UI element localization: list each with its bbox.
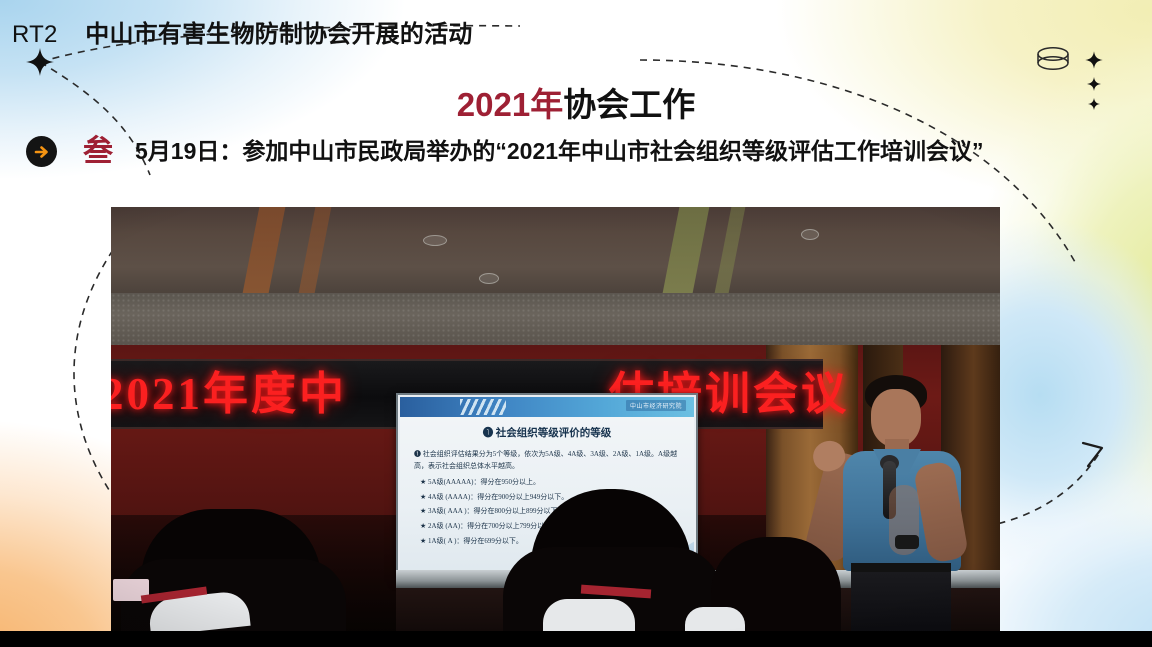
bullet-index: 叁 (83, 137, 113, 167)
cylinder-disc-icon (1035, 46, 1071, 72)
page-title-rest: 协会工作 (563, 86, 695, 123)
four-point-star-icon-large (1084, 50, 1104, 70)
header-title: 中山市有害生物防制协会开展的活动 (85, 21, 472, 48)
header-code: RT2 (12, 21, 58, 48)
arrow-right-circle-icon[interactable] (26, 136, 57, 167)
page-title: 2021年协会工作 (0, 78, 1152, 126)
meeting-photo: 2021年度中 估培训会议 中山市经济研究院 ❶ 社会组织等级评价的等级 ❶ 社… (111, 207, 1000, 631)
slide-canvas: RT2 中山市有害生物防制协会开展的活动 2021年协会工作 叁 5月19日：参… (0, 0, 1152, 631)
arrow-head-icon (1083, 443, 1102, 466)
bullet-row: 叁 5月19日：参加中山市民政局举办的“2021年中山市社会组织等级评估工作培训… (26, 136, 984, 167)
bottom-black-bar (0, 631, 1152, 647)
photo-vignette (111, 207, 1000, 631)
slide-header: RT2 中山市有害生物防制协会开展的活动 (12, 14, 472, 49)
page-title-year: 2021年 (457, 86, 563, 123)
bullet-text: 5月19日：参加中山市民政局举办的“2021年中山市社会组织等级评估工作培训会议… (135, 140, 984, 163)
sparkle-top-left-icon (24, 46, 56, 78)
dashed-arc-left-icon (74, 250, 113, 496)
